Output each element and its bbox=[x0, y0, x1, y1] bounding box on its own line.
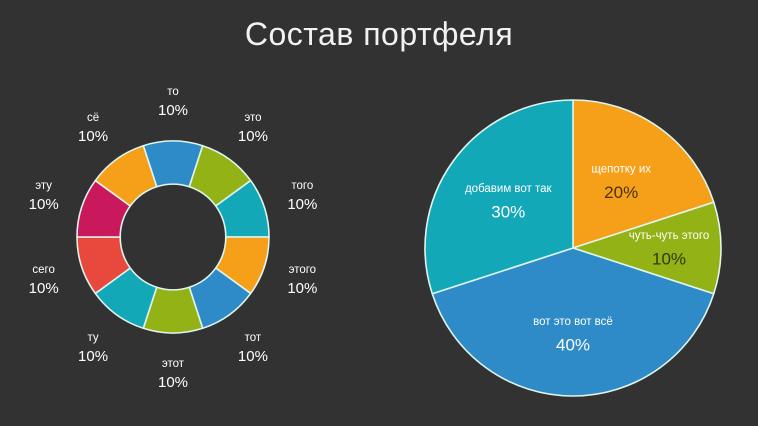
pie-slice-value: 40% bbox=[556, 335, 590, 354]
pie-slice-value: 10% bbox=[78, 128, 108, 145]
pie-slice-label: чуть-чуть этого bbox=[629, 230, 710, 242]
doughnut-chart[interactable]: то10%это10%того10%этого10%тот10%этот10%т… bbox=[18, 62, 368, 414]
pie-slice-value: 10% bbox=[238, 128, 268, 145]
pie-slice-label-group: сё10% bbox=[78, 112, 108, 145]
pie-slice-label: это bbox=[244, 112, 261, 124]
pie-slice-value: 10% bbox=[78, 348, 108, 365]
pie-chart[interactable]: щепотку их20%чуть-чуть этого10%вот это в… bbox=[400, 88, 746, 408]
pie-slice-label: то bbox=[167, 86, 179, 98]
pie-slice-label-group: тот10% bbox=[238, 332, 268, 365]
pie-slice-label: добавим вот так bbox=[465, 183, 553, 195]
pie-slice-value: 10% bbox=[29, 280, 59, 297]
pie-slice-label-group: это10% bbox=[238, 112, 268, 145]
pie-slice-label: того bbox=[291, 180, 313, 192]
pie-slice-label: ту bbox=[87, 332, 98, 344]
pie-slice-value: 10% bbox=[158, 374, 188, 391]
pie-slice-value: 30% bbox=[491, 202, 525, 221]
pie-slice-label-group: того10% bbox=[287, 180, 317, 213]
pie-slice-label-group: ту10% bbox=[78, 332, 108, 365]
pie-slice-label-group: то10% bbox=[158, 86, 188, 119]
page-title: Состав портфеля bbox=[0, 14, 758, 54]
pie-slice-value: 10% bbox=[287, 280, 317, 297]
pie-slice-value: 10% bbox=[29, 196, 59, 213]
pie-slice-label: сего bbox=[32, 264, 54, 276]
pie-slice-value: 10% bbox=[652, 249, 686, 268]
pie-slice-label: этого bbox=[289, 264, 317, 276]
pie-slice-value: 20% bbox=[604, 183, 638, 202]
pie-slice-label: эту bbox=[35, 180, 52, 192]
pie-slice-label: вот это вот всё bbox=[533, 316, 613, 328]
pie-chart-svg: щепотку их20%чуть-чуть этого10%вот это в… bbox=[400, 88, 746, 408]
pie-slice-value: 10% bbox=[158, 102, 188, 119]
pie-slice-label-group: этого10% bbox=[287, 264, 317, 297]
pie-slice-label: тот bbox=[245, 332, 262, 344]
pie-slice-label-group: эту10% bbox=[29, 180, 59, 213]
pie-slice-value: 10% bbox=[238, 348, 268, 365]
doughnut-chart-svg: то10%это10%того10%этого10%тот10%этот10%т… bbox=[18, 62, 368, 414]
pie-slice-label-group: этот10% bbox=[158, 358, 188, 391]
pie-slice-label-group: сего10% bbox=[29, 264, 59, 297]
slide-canvas: Состав портфеля то10%это10%того10%этого1… bbox=[0, 0, 758, 426]
pie-slice-label: сё bbox=[87, 112, 99, 124]
pie-slice-value: 10% bbox=[287, 196, 317, 213]
pie-slice-label: щепотку их bbox=[591, 164, 651, 176]
pie-slice-label: этот bbox=[162, 358, 185, 370]
